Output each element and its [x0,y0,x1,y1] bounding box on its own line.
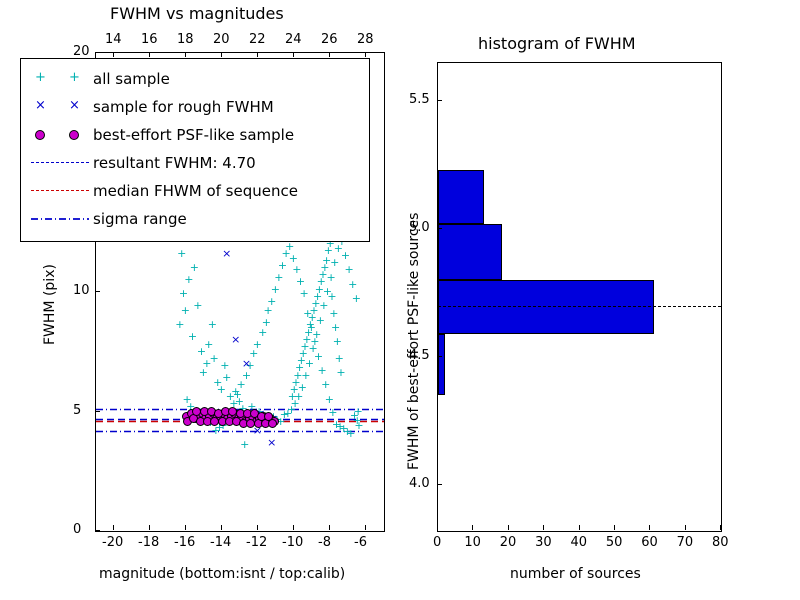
axis-tick [365,52,366,57]
scatter-point-all-sample: + [345,264,354,275]
right-x-tick-label: 30 [535,535,552,550]
scatter-point-rough-fwhm: × [231,334,240,345]
right-y-tick-label: 4.5 [409,348,430,363]
histogram-bar [438,170,484,224]
right-x-tick-label: 20 [500,535,517,550]
axis-tick [257,52,258,57]
left-y-axis-label: FWHM (pix) [42,264,58,345]
scatter-point-all-sample: + [179,288,188,299]
legend-label: resultant FWHM: 4.70 [93,154,256,172]
scatter-point-all-sample: + [336,367,345,378]
scatter-point-all-sample: + [264,305,273,316]
scatter-point-all-sample: + [240,439,249,450]
scatter-point-all-sample: + [288,391,297,402]
scatter-point-all-sample: + [325,394,334,405]
legend-item-resultant-fwhm: resultant FWHM: 4.70 [29,149,361,177]
legend-item-psf-like: best-effort PSF-like sample [29,121,361,149]
axis-tick [149,525,150,530]
scatter-point-all-sample: + [327,291,336,302]
scatter-point-all-sample: + [328,407,337,418]
scatter-point-all-sample: + [222,372,231,383]
histogram-bar [438,334,445,395]
histogram-median-line [438,306,721,307]
scatter-point-rough-fwhm: × [267,437,276,448]
scatter-point-all-sample: + [175,319,184,330]
axis-tick [508,525,509,530]
axis-tick [579,525,580,530]
legend-item-rough-fwhm: ×× sample for rough FWHM [29,93,361,121]
axis-tick [95,530,100,531]
scatter-point-all-sample: + [183,394,192,405]
left-top-tick-label: 14 [105,32,122,47]
histogram-plot-area [437,62,722,532]
right-y-tick-label: 5.0 [409,220,430,235]
legend-marker-dashed-blue [29,153,93,173]
scatter-point-all-sample: + [190,262,199,273]
scatter-point-all-sample: + [352,293,361,304]
scatter-point-rough-fwhm: × [222,248,231,259]
left-x-tick-label: -6 [354,535,367,550]
scatter-point-all-sample: + [217,384,226,395]
left-y-tick-label: 20 [73,44,90,59]
scatter-point-all-sample: + [300,288,309,299]
axis-tick [95,52,100,53]
scatter-point-all-sample: + [296,276,305,287]
scatter-point-all-sample: + [292,264,301,275]
legend-label: all sample [93,70,170,88]
axis-tick [257,525,258,530]
axis-tick [185,525,186,530]
left-top-tick-label: 16 [141,32,158,47]
left-x-tick-label: -16 [174,535,195,550]
left-plot-title: FWHM vs magnitudes [110,4,284,23]
legend-marker-dashed-red [29,181,93,201]
left-x-axis-label: magnitude (bottom:isnt / top:calib) [99,566,345,582]
axis-tick [649,525,650,530]
axis-tick [437,525,438,530]
scatter-point-all-sample: + [341,250,350,261]
left-y-tick-label: 10 [73,283,90,298]
scatter-point-all-sample: + [333,336,342,347]
axis-tick [221,52,222,57]
axis-tick [543,525,544,530]
legend-marker-dot-magenta [29,125,93,145]
scatter-point-all-sample: + [331,322,340,333]
scatter-point-all-sample: + [282,248,291,259]
right-x-axis-label: number of sources [510,566,641,582]
right-x-tick-label: 0 [433,535,441,550]
scatter-point-all-sample: + [330,257,339,268]
axis-tick [720,525,721,530]
axis-tick [293,525,294,530]
left-top-tick-label: 24 [285,32,302,47]
scatter-point-all-sample: + [335,353,344,364]
right-x-tick-label: 10 [464,535,481,550]
axis-tick [113,52,114,57]
left-y-tick-label: 0 [73,522,81,537]
scatter-point-all-sample: + [321,379,330,390]
left-x-tick-label: -10 [282,535,303,550]
dashdot-line-icon [31,212,91,226]
right-x-tick-label: 80 [712,535,729,550]
axis-tick [437,228,442,229]
scatter-point-all-sample: + [258,327,267,338]
scatter-point-all-sample: + [208,319,217,330]
left-top-tick-label: 28 [357,32,374,47]
left-x-tick-label: -12 [246,535,267,550]
axis-tick [329,52,330,57]
left-x-tick-label: -14 [210,535,231,550]
scatter-point-all-sample: + [181,305,190,316]
axis-tick [95,411,100,412]
scatter-point-all-sample: + [271,284,280,295]
legend-marker-plus-cyan: ++ [29,69,93,89]
legend-label: median FHWM of sequence [93,182,298,200]
axis-tick [293,52,294,57]
scatter-point-all-sample: + [278,260,287,271]
axis-tick [221,525,222,530]
left-y-tick-label: 5 [73,403,81,418]
legend-item-all-sample: ++ all sample [29,65,361,93]
axis-tick [113,525,114,530]
right-plot-title: histogram of FWHM [478,34,636,53]
scatter-point-all-sample: + [188,331,197,342]
figure-canvas: FWHM vs magnitudes +++++++++++++++++++++… [0,0,800,600]
axis-tick [329,525,330,530]
scatter-point-all-sample: + [177,248,186,259]
scatter-point-rough-fwhm: × [242,358,251,369]
left-x-tick-label: -8 [318,535,331,550]
axis-tick [472,525,473,530]
left-x-tick-label: -20 [102,535,123,550]
scatter-point-all-sample: + [318,365,327,376]
legend-label: sigma range [93,210,187,228]
axis-tick [149,52,150,57]
axis-tick [437,484,442,485]
right-y-axis-label: FWHM of best-effort PSF-like sources [406,213,422,470]
left-top-tick-label: 22 [249,32,266,47]
scatter-point-all-sample: + [199,367,208,378]
scatter-point-all-sample: + [354,420,363,431]
left-x-tick-label: -18 [138,535,159,550]
right-x-tick-label: 40 [571,535,588,550]
legend: ++ all sample ×× sample for rough FWHM b… [20,58,370,242]
scatter-point-all-sample: + [314,351,323,362]
legend-item-median-fwhm: median FHWM of sequence [29,177,361,205]
right-x-tick-label: 70 [677,535,694,550]
axis-tick [95,291,100,292]
left-top-tick-label: 26 [321,32,338,47]
scatter-point-all-sample: + [193,300,202,311]
axis-tick [685,525,686,530]
histogram-bar [438,224,502,280]
legend-marker-dashdot-blue [29,209,93,229]
left-top-tick-label: 20 [213,32,230,47]
scatter-point-all-sample: + [329,308,338,319]
right-y-tick-label: 5.5 [409,92,430,107]
scatter-point-all-sample: + [204,339,213,350]
axis-tick [437,356,442,357]
legend-label: best-effort PSF-like sample [93,126,294,144]
legend-label: sample for rough FWHM [93,98,274,116]
right-x-tick-label: 60 [641,535,658,550]
scatter-point-all-sample: + [220,360,229,371]
legend-item-sigma-range: sigma range [29,205,361,233]
left-top-tick-label: 18 [177,32,194,47]
scatter-point-all-sample: + [274,272,283,283]
histogram-bar [438,280,654,334]
axis-tick [614,525,615,530]
scatter-point-all-sample: + [210,353,219,364]
right-y-tick-label: 4.0 [409,476,430,491]
axis-tick [437,100,442,101]
scatter-point-all-sample: + [184,274,193,285]
axis-tick [365,525,366,530]
axis-tick [185,52,186,57]
scatter-point-all-sample: + [348,279,357,290]
legend-marker-cross-blue: ×× [29,97,93,117]
right-x-tick-label: 50 [606,535,623,550]
